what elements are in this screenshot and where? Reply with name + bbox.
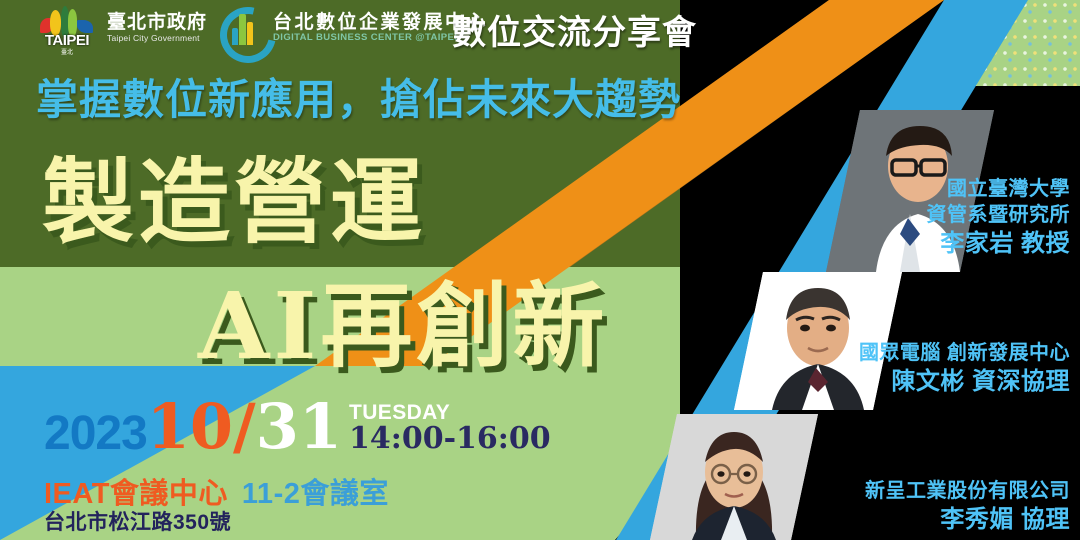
speaker-2-text: 國眾電腦 創新發展中心 陳文彬 資深協理 [690,340,1070,397]
series-title: 數位交流分享會 [452,5,697,54]
venue-room: 11-2會議室 [242,470,389,512]
speaker-1-text: 國立臺灣大學 資管系暨研究所 李家岩 教授 [770,176,1070,259]
event-poster: TAIPEI 臺北 臺北市政府 Taipei City Government 台… [0,0,1080,540]
speaker-3-org-line-1: 新呈工業股份有限公司 [600,478,1070,504]
speaker-2-org-line-1: 國眾電腦 創新發展中心 [690,340,1070,366]
taipei-wordmark-sub: 臺北 [36,47,98,56]
event-weekday: TUESDAY [349,402,551,423]
event-time-block: TUESDAY 14:00-16:00 [349,402,551,457]
header-logos: TAIPEI 臺北 臺北市政府 Taipei City Government 台… [36,2,488,54]
main-title-line-1: 製造營運 [42,128,426,261]
event-date-row: 2023 10/ 31 TUESDAY 14:00-16:00 [44,398,551,457]
taipei-gov-name: 臺北市政府 Taipei City Government [107,13,207,43]
dbc-bar-green [239,14,246,45]
event-time: 14:00-16:00 [349,423,551,455]
speaker-3-person: 李秀媚 協理 [600,504,1070,535]
speaker-1-person: 李家岩 教授 [770,228,1070,259]
dbc-bar-yellow [247,22,253,45]
taipei-gov-name-cn: 臺北市政府 [107,13,207,33]
event-day: 31 [256,398,342,457]
event-year: 2023 [44,411,147,457]
tagline: 掌握數位新應用，搶佔未來大趨勢 [36,66,681,127]
taipei-city-logo-icon: TAIPEI 臺北 [36,2,98,54]
digital-business-center-logo-icon [220,5,264,51]
main-title-line-2: AI再創新 [198,252,608,385]
taipei-gov-name-en: Taipei City Government [107,33,207,43]
speaker-2-person: 陳文彬 資深協理 [690,366,1070,397]
venue-address: 台北市松江路350號 [44,506,231,536]
event-month: 10/ [147,398,256,457]
speaker-1-org-line-1: 國立臺灣大學 [770,176,1070,202]
speaker-1-org-line-2: 資管系暨研究所 [770,202,1070,228]
speaker-3-text: 新呈工業股份有限公司 李秀媚 協理 [600,478,1070,535]
dbc-bar-blue [232,28,238,45]
